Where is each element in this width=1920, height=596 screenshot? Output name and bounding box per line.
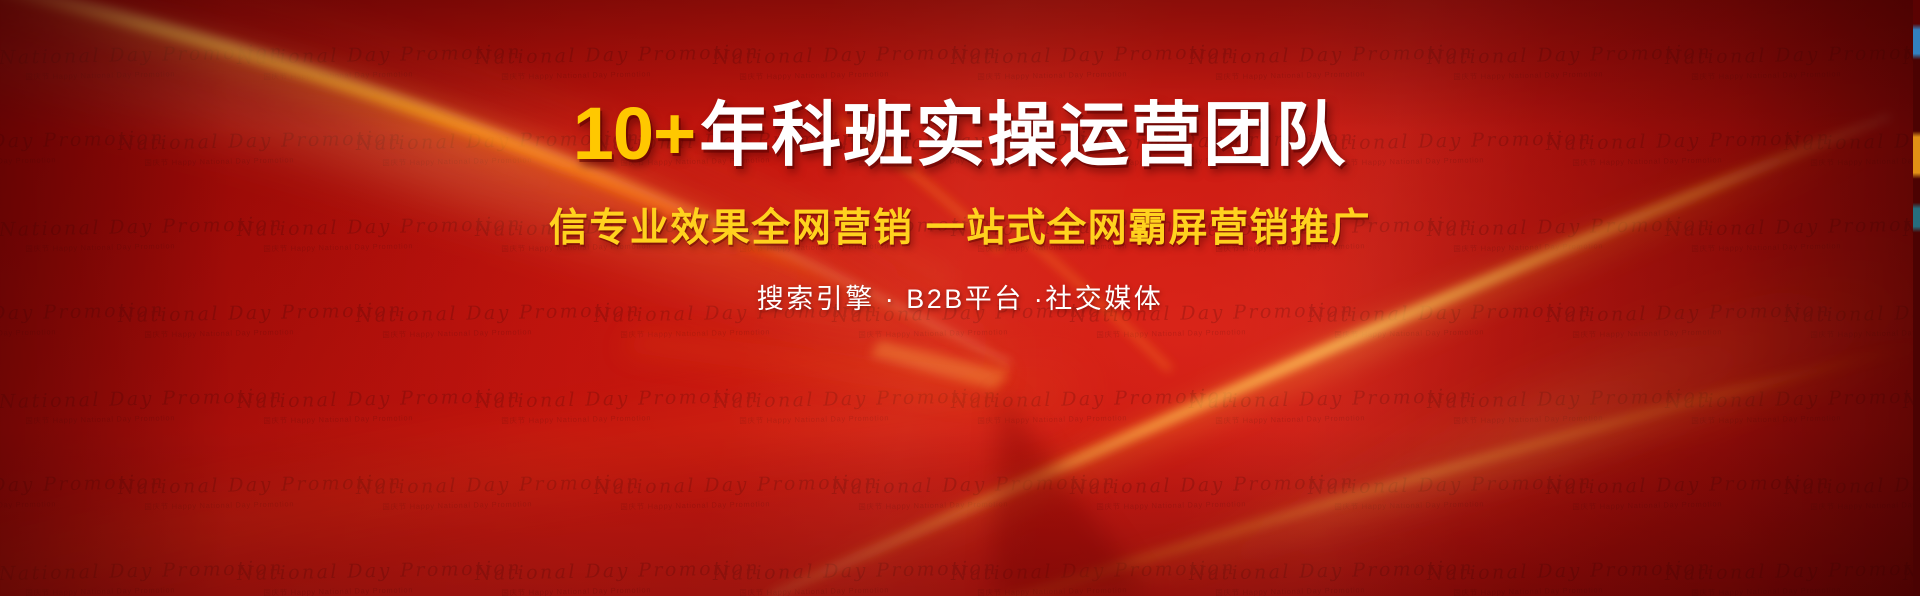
watermark-script-text: National Day Promotion: [237, 559, 522, 584]
watermark-script-text: National Day Promotion: [1189, 43, 1474, 68]
watermark-tile: National Day Promotion国庆节 Happy National…: [237, 387, 523, 425]
banner-tagline: 搜索引擎 · B2B平台 ·社交媒体: [0, 277, 1920, 316]
watermark-script-text: National Day Promotion: [1070, 473, 1355, 498]
watermark-script-text: National Day Promotion: [118, 473, 403, 498]
watermark-tile: National Day Promotion国庆节 Happy National…: [1070, 473, 1356, 511]
watermark-sub-text: 国庆节 Happy National Day Promotion: [1096, 326, 1355, 339]
watermark-tile: National Day Promotion国庆节 Happy National…: [0, 387, 284, 425]
watermark-sub-text: 国庆节 Happy National Day Promotion: [1453, 412, 1712, 425]
banner-content: 10+年科班实操运营团队 信专业效果全网营销 一站式全网霸屏营销推广 搜索引擎 …: [0, 96, 1920, 316]
headline-number: 10+: [573, 92, 696, 175]
watermark-sub-text: 国庆节 Happy National Day Promotion: [1691, 584, 1920, 596]
headline-text: 年科班实操运营团队: [699, 96, 1347, 174]
watermark-tile: National Day Promotion国庆节 Happy National…: [951, 559, 1237, 596]
watermark-sub-text: 国庆节 Happy National Day Promotion: [1691, 412, 1920, 425]
watermark-tile: National Day Promotion国庆节 Happy National…: [475, 387, 761, 425]
watermark-script-text: National Day Promotion: [1427, 387, 1712, 412]
watermark-sub-text: 国庆节 Happy National Day Promotion: [1096, 498, 1355, 511]
watermark-sub-text: 国庆节 Happy National Day Promotion: [1215, 412, 1474, 425]
watermark-tile: National Day Promotion国庆节 Happy National…: [713, 387, 999, 425]
watermark-tile: National Day Promotion国庆节 Happy National…: [0, 473, 165, 511]
watermark-script-text: National Day Promotion: [713, 559, 998, 584]
watermark-tile: National Day Promotion国庆节 Happy National…: [713, 43, 999, 81]
watermark-sub-text: 国庆节 Happy National Day Promotion: [263, 584, 522, 596]
watermark-sub-text: 国庆节 Happy National Day Promotion: [263, 412, 522, 425]
watermark-sub-text: 国庆节 Happy National Day Promotion: [739, 412, 998, 425]
watermark-script-text: National Day Promotion: [1189, 559, 1474, 584]
watermark-sub-text: 国庆节 Happy National Day Promotion: [1334, 498, 1593, 511]
watermark-script-text: National Day Promotion: [832, 473, 1117, 498]
watermark-script-text: National Day Promotion: [237, 43, 522, 68]
watermark-tile: National Day Promotion国庆节 Happy National…: [1189, 387, 1475, 425]
watermark-sub-text: 国庆节 Happy National Day Promotion: [144, 326, 403, 339]
watermark-sub-text: 国庆节 Happy National Day Promotion: [1810, 498, 1920, 511]
watermark-sub-text: 国庆节 Happy National Day Promotion: [25, 412, 284, 425]
watermark-sub-text: 国庆节 Happy National Day Promotion: [1334, 326, 1593, 339]
watermark-sub-text: 国庆节 Happy National Day Promotion: [620, 498, 879, 511]
watermark-script-text: National Day Promotion: [475, 559, 760, 584]
watermark-tile: National Day Promotion国庆节 Happy National…: [1427, 559, 1713, 596]
watermark-script-text: National Day Promotion: [237, 387, 522, 412]
watermark-tile: National Day Promotion国庆节 Happy National…: [0, 559, 284, 596]
watermark-script-text: National Day Promotion: [1308, 473, 1593, 498]
watermark-script-text: National Day Promotion: [1665, 43, 1920, 68]
watermark-sub-text: 国庆节 Happy National Day Promotion: [501, 68, 760, 81]
watermark-tile: National Day Promotion国庆节 Happy National…: [1784, 473, 1920, 511]
scrollbar-edge-sliver[interactable]: [1913, 0, 1920, 596]
watermark-tile: National Day Promotion国庆节 Happy National…: [713, 559, 999, 596]
watermark-tile: National Day Promotion国庆节 Happy National…: [1665, 43, 1920, 81]
watermark-script-text: National Day Promotion: [356, 473, 641, 498]
watermark-sub-text: 国庆节 Happy National Day Promotion: [0, 326, 165, 339]
watermark-script-text: National Day Promotion: [475, 387, 760, 412]
watermark-sub-text: 国庆节 Happy National Day Promotion: [977, 412, 1236, 425]
watermark-tile: National Day Promotion国庆节 Happy National…: [1665, 559, 1920, 596]
watermark-script-text: National Day Promotion: [951, 559, 1236, 584]
watermark-script-text: National Day Promotion: [1546, 473, 1831, 498]
watermark-sub-text: 国庆节 Happy National Day Promotion: [1572, 326, 1831, 339]
watermark-sub-text: 国庆节 Happy National Day Promotion: [1453, 68, 1712, 81]
watermark-sub-text: 国庆节 Happy National Day Promotion: [1215, 68, 1474, 81]
watermark-sub-text: 国庆节 Happy National Day Promotion: [739, 68, 998, 81]
watermark-tile: National Day Promotion国庆节 Happy National…: [237, 559, 523, 596]
watermark-sub-text: 国庆节 Happy National Day Promotion: [1453, 584, 1712, 596]
watermark-script-text: National Day Promotion: [951, 387, 1236, 412]
watermark-sub-text: 国庆节 Happy National Day Promotion: [1572, 498, 1831, 511]
watermark-tile: National Day Promotion国庆节 Happy National…: [1546, 473, 1832, 511]
banner-subline: 信专业效果全网营销 一站式全网霸屏营销推广: [0, 197, 1920, 253]
watermark-tile: National Day Promotion国庆节 Happy National…: [1427, 43, 1713, 81]
watermark-tile: National Day Promotion国庆节 Happy National…: [832, 473, 1118, 511]
watermark-tile: National Day Promotion国庆节 Happy National…: [951, 43, 1237, 81]
watermark-sub-text: 国庆节 Happy National Day Promotion: [1691, 68, 1920, 81]
watermark-script-text: National Day Promotion: [1784, 473, 1920, 498]
watermark-script-text: National Day Promotion: [0, 473, 165, 498]
watermark-sub-text: 国庆节 Happy National Day Promotion: [382, 326, 641, 339]
watermark-script-text: National Day Promotion: [713, 43, 998, 68]
watermark-sub-text: 国庆节 Happy National Day Promotion: [977, 584, 1236, 596]
watermark-script-text: National Day Promotion: [0, 387, 284, 412]
watermark-tile: National Day Promotion国庆节 Happy National…: [0, 43, 284, 81]
watermark-sub-text: 国庆节 Happy National Day Promotion: [144, 498, 403, 511]
watermark-sub-text: 国庆节 Happy National Day Promotion: [977, 68, 1236, 81]
watermark-tile: National Day Promotion国庆节 Happy National…: [1665, 387, 1920, 425]
watermark-sub-text: 国庆节 Happy National Day Promotion: [858, 326, 1117, 339]
watermark-script-text: National Day Promotion: [1189, 387, 1474, 412]
watermark-sub-text: 国庆节 Happy National Day Promotion: [1810, 326, 1920, 339]
watermark-tile: National Day Promotion国庆节 Happy National…: [951, 387, 1237, 425]
watermark-tile: National Day Promotion国庆节 Happy National…: [237, 43, 523, 81]
watermark-sub-text: 国庆节 Happy National Day Promotion: [25, 68, 284, 81]
watermark-sub-text: 国庆节 Happy National Day Promotion: [858, 498, 1117, 511]
watermark-tile: National Day Promotion国庆节 Happy National…: [1189, 559, 1475, 596]
watermark-sub-text: 国庆节 Happy National Day Promotion: [620, 326, 879, 339]
watermark-script-text: National Day Promotion: [0, 43, 284, 68]
watermark-sub-text: 国庆节 Happy National Day Promotion: [1215, 584, 1474, 596]
watermark-script-text: National Day Promotion: [1427, 559, 1712, 584]
watermark-script-text: National Day Promotion: [1665, 387, 1920, 412]
watermark-tile: National Day Promotion国庆节 Happy National…: [1308, 473, 1594, 511]
promo-banner: National Day Promotion国庆节 Happy National…: [0, 0, 1920, 596]
banner-headline: 10+年科班实操运营团队: [0, 96, 1920, 171]
watermark-script-text: National Day Promotion: [475, 43, 760, 68]
watermark-sub-text: 国庆节 Happy National Day Promotion: [382, 498, 641, 511]
watermark-tile: National Day Promotion国庆节 Happy National…: [1189, 43, 1475, 81]
watermark-sub-text: 国庆节 Happy National Day Promotion: [263, 68, 522, 81]
watermark-sub-text: 国庆节 Happy National Day Promotion: [0, 498, 165, 511]
watermark-tile: National Day Promotion国庆节 Happy National…: [118, 473, 404, 511]
watermark-tile: National Day Promotion国庆节 Happy National…: [594, 473, 880, 511]
watermark-tile: National Day Promotion国庆节 Happy National…: [475, 43, 761, 81]
watermark-script-text: National Day Promotion: [0, 559, 284, 584]
watermark-script-text: National Day Promotion: [594, 473, 879, 498]
watermark-script-text: National Day Promotion: [1427, 43, 1712, 68]
watermark-sub-text: 国庆节 Happy National Day Promotion: [25, 584, 284, 596]
watermark-tile: National Day Promotion国庆节 Happy National…: [475, 559, 761, 596]
watermark-tile: National Day Promotion国庆节 Happy National…: [356, 473, 642, 511]
watermark-tile: National Day Promotion国庆节 Happy National…: [1427, 387, 1713, 425]
watermark-sub-text: 国庆节 Happy National Day Promotion: [501, 584, 760, 596]
watermark-sub-text: 国庆节 Happy National Day Promotion: [501, 412, 760, 425]
watermark-sub-text: 国庆节 Happy National Day Promotion: [739, 584, 998, 596]
watermark-script-text: National Day Promotion: [713, 387, 998, 412]
watermark-script-text: National Day Promotion: [1665, 559, 1920, 584]
watermark-script-text: National Day Promotion: [951, 43, 1236, 68]
